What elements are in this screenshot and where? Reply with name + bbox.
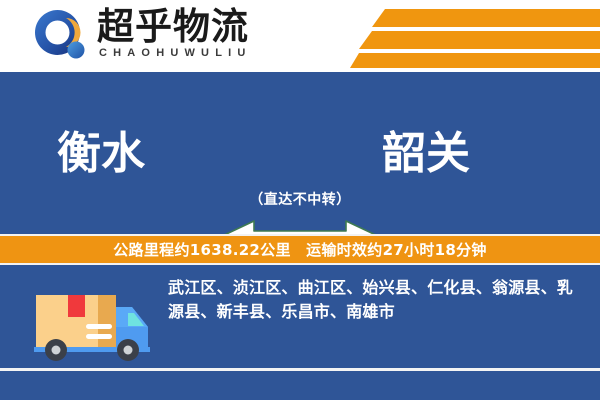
triple-slanted-bars-icon	[350, 0, 600, 72]
destination-panel: 武江区、浈江区、曲江区、始兴县、仁化县、翁源县、乳源县、新丰县、乐昌市、南雄市	[0, 265, 600, 368]
route-info-text: 公路里程约1638.22公里 运输时效约27小时18分钟	[113, 239, 486, 260]
delivery-truck-icon	[24, 279, 156, 363]
route-info-bar: 公路里程约1638.22公里 运输时效约27小时18分钟	[0, 234, 600, 265]
banner-footer	[0, 371, 600, 400]
circle-q-logo-icon	[33, 8, 91, 66]
banner-header: 超乎物流 CHAOHUWULIU	[0, 0, 600, 72]
destination-city-name: 韶关	[382, 128, 470, 180]
logistics-route-banner: 超乎物流 CHAOHUWULIU （直达不中转） 【往返运输】 衡水 韶关 公路…	[0, 0, 600, 400]
destination-area-list: 武江区、浈江区、曲江区、始兴县、仁化县、翁源县、乳源县、新丰县、乐昌市、南雄市	[168, 276, 586, 324]
brand-name-cn: 超乎物流	[97, 6, 249, 48]
origin-city-name: 衡水	[57, 128, 145, 180]
route-note-direct: （直达不中转）	[0, 189, 600, 209]
brand-name-pinyin: CHAOHUWULIU	[99, 47, 252, 59]
